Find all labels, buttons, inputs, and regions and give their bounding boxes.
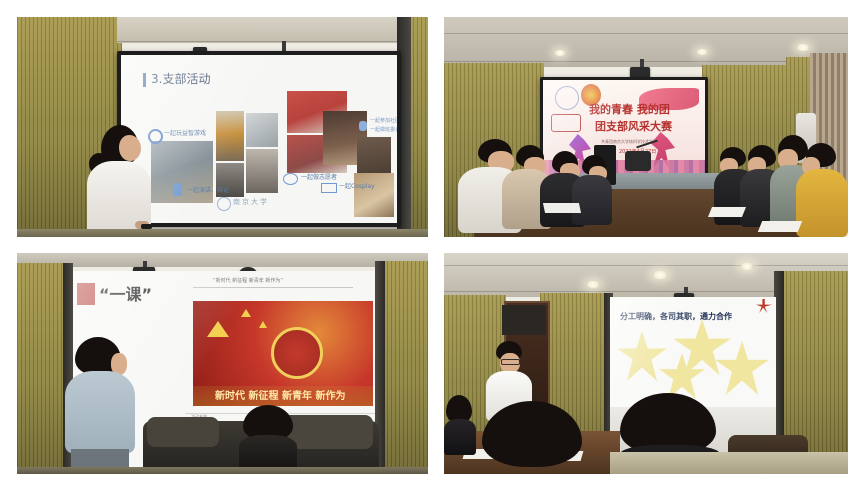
paper-document [543,203,581,213]
star-shape [714,341,770,395]
ceiling-light-icon [652,271,668,279]
slide-label-2: 一起做志愿者 [301,175,337,181]
slide-title-line2: 团支部风采大赛 [595,121,672,132]
collage-photo-bottom-left: “一课” “新时代 新征程 新青年 新作为” 新时代 新征程 新青年 新作为 活… [17,253,428,474]
ceiling-light-icon [586,281,600,288]
attendee-person [235,405,301,474]
contest-stamp-icon [551,114,581,132]
presenter-person [79,125,161,237]
ceiling-light-icon [696,49,708,55]
slide-footer-logo-text: 南京大学 [233,199,269,206]
attendee-person [572,155,616,227]
attendee-person [796,143,848,237]
university-emblem-icon [555,86,579,110]
youth-league-emblem-icon [271,327,323,379]
projection-screen-bottom-right: 分工明确，各司其职，通力合作 [610,297,776,407]
slide-title-line1: 我的青春 我的团 [589,104,670,115]
slide-photo [216,111,244,161]
slide-label-3: 一起Cosplay [339,184,375,190]
podium-icon [173,183,182,196]
paper-document [708,207,746,217]
party-emblem-icon [756,299,772,313]
slide-accent-block [77,283,95,305]
group-icon [359,121,367,131]
slide-title-top-left: 3.支部活动 [151,73,210,85]
poster-text: 新时代 新征程 新青年 新作为 [215,392,345,402]
collage-photo-bottom-right: 分工明确，各司其职，通力合作 [444,253,848,474]
slide-label-4: 一起参加社团 [370,119,397,124]
slide-header-text: “新时代 新征程 新青年 新作为” [213,279,283,284]
slide-photo [246,149,278,193]
collage-photo-top-left: 3.支部活动 一起玩益智游戏 一起演讲、辩论 一起做志愿者 [17,17,428,237]
slide-photo [246,113,278,147]
mask-icon [321,183,337,193]
smiley-icon [283,173,298,185]
conference-microphone [625,151,651,171]
ceiling-light-icon [740,263,754,270]
photo-collage: 3.支部活动 一起玩益智游戏 一起演讲、辩论 一起做志愿者 [0,0,865,486]
wall-panel [502,305,546,335]
university-logo-icon [217,197,231,211]
star-shape [616,331,668,381]
ceiling-light-icon [554,50,566,56]
slide-title-bar [143,73,146,87]
paper-document [758,221,802,232]
presenter-person [63,337,143,474]
poster-image: 新时代 新征程 新青年 新作为 [193,301,373,406]
slide-photo [354,173,394,217]
slide-left-label: “一课” [99,287,152,303]
glasses-icon [501,359,520,365]
slide-label-5: 一起做班委会 [370,128,397,133]
slide-label-1: 一起演讲、辩论 [187,188,229,194]
attendee-person [482,401,586,474]
ceiling-light-icon [796,44,810,51]
slide-label-0: 一起玩益智游戏 [164,131,206,137]
attendee-person [444,395,480,457]
collage-photo-top-right: 我的青春 我的团 团支部风采大赛 共青团南京大学核科学技术学院委员会 2022年… [444,17,848,237]
projection-screen-top-left: 3.支部活动 一起玩益智游戏 一起演讲、辩论 一起做志愿者 [121,55,397,223]
slide-title-bottom-right: 分工明确，各司其职，通力合作 [620,313,732,321]
